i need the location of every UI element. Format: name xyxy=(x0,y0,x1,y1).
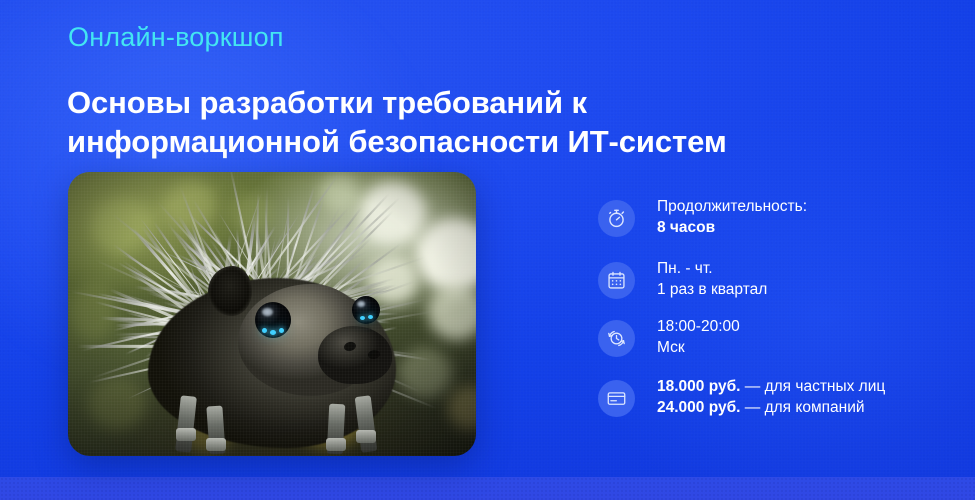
detail-row-schedule: Пн. - чт. 1 раз в квартал xyxy=(598,258,767,300)
stopwatch-icon xyxy=(598,200,635,237)
detail-line-2: 1 раз в квартал xyxy=(657,281,767,298)
detail-text-duration: Продолжительность: 8 часов xyxy=(657,196,807,238)
detail-text-time: 18:00-20:00 Мск xyxy=(657,316,740,358)
eyebrow-label: Онлайн-воркшоп xyxy=(68,21,284,53)
detail-text-schedule: Пн. - чт. 1 раз в квартал xyxy=(657,258,767,300)
detail-line-1: 18:00-20:00 xyxy=(657,318,740,335)
photo-grain xyxy=(68,172,476,456)
detail-row-price: 18.000 руб. — для частных лиц 24.000 руб… xyxy=(598,376,885,418)
price-private-label: — для частных лиц xyxy=(740,378,885,395)
price-company-label: — для компаний xyxy=(740,399,864,416)
calendar-icon xyxy=(598,262,635,299)
clock-timezone-icon xyxy=(598,320,635,357)
detail-row-duration: Продолжительность: 8 часов xyxy=(598,196,807,238)
detail-line-1: Продолжительность: xyxy=(657,198,807,215)
detail-line-1: Пн. - чт. xyxy=(657,260,713,277)
credit-card-icon xyxy=(598,380,635,417)
page-title-line-2: информационной безопасности ИТ-систем xyxy=(67,122,827,161)
page-title: Основы разработки требований к информаци… xyxy=(67,83,827,161)
page-title-line-1: Основы разработки требований к xyxy=(67,83,827,122)
detail-text-price: 18.000 руб. — для частных лиц 24.000 руб… xyxy=(657,376,885,418)
detail-row-time: 18:00-20:00 Мск xyxy=(598,316,740,358)
workshop-promo-slide: Онлайн-воркшоп Основы разработки требова… xyxy=(0,0,975,500)
price-private-amount: 18.000 руб. xyxy=(657,378,740,395)
hero-image-card xyxy=(68,172,476,456)
price-company-amount: 24.000 руб. xyxy=(657,399,740,416)
detail-line-2: 8 часов xyxy=(657,219,715,236)
background-bottom-band xyxy=(0,477,975,500)
detail-line-2: Мск xyxy=(657,339,685,356)
